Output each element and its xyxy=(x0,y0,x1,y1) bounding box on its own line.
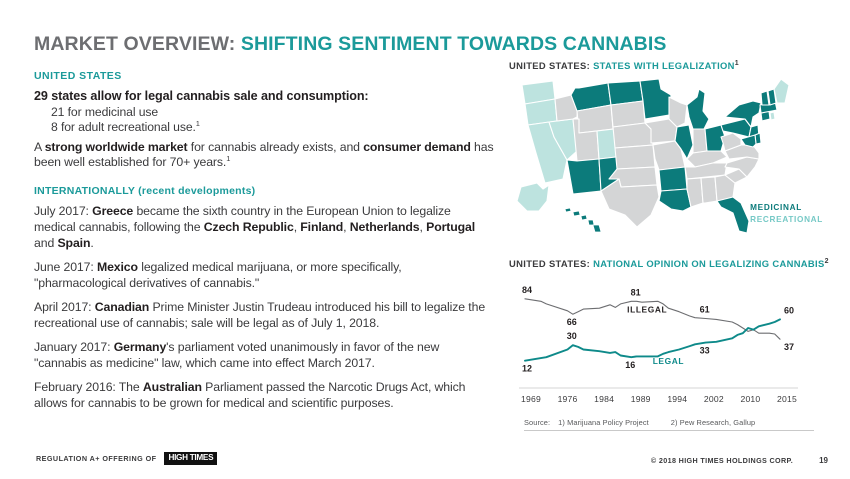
x-tick-1: 1976 xyxy=(558,394,578,404)
high-times-logo: HIGH TIMES xyxy=(164,452,217,465)
state-louisiana xyxy=(659,189,691,211)
chart-heading-prefix: UNITED STATES: xyxy=(509,258,593,269)
chart-x-axis: 1969 1976 1984 1989 1994 2002 2010 2015 xyxy=(521,394,797,404)
state-florida xyxy=(717,197,749,233)
chart-value-label-legal-12: 12 xyxy=(522,364,532,374)
page-title-prefix: MARKET OVERVIEW: xyxy=(34,33,241,55)
us-sub-recreational-text: 8 for adult recreational use. xyxy=(51,120,196,134)
state-arizona xyxy=(567,159,601,194)
source-item-2: 2) Pew Research, Gallup xyxy=(671,418,755,427)
x-tick-3: 1989 xyxy=(631,394,651,404)
intl-mexico-date: June 2017: xyxy=(34,260,97,274)
us-sub-recreational: 8 for adult recreational use.1 xyxy=(51,120,494,135)
intl-greece-sep-4: and xyxy=(34,236,57,250)
intl-entry-mexico: June 2017: Mexico legalized medical mari… xyxy=(34,260,494,292)
state-arkansas xyxy=(659,167,687,191)
map-panel: UNITED STATES: STATES WITH LEGALIZATION1 xyxy=(509,60,845,235)
intl-mexico-country: Mexico xyxy=(97,260,138,274)
section-heading-internationally: INTERNATIONALLY (recent developments) xyxy=(34,185,494,197)
us-para-footnote: 1 xyxy=(226,154,230,163)
map-legend: MEDICINAL RECREATIONAL xyxy=(750,202,823,227)
chart-value-label-legal-33: 33 xyxy=(700,346,710,356)
footer-left: REGULATION A+ OFFERING OF HIGH TIMES xyxy=(36,452,217,465)
intl-greece-country-netherlands: Netherlands xyxy=(350,220,420,234)
state-maine xyxy=(774,79,789,103)
footer-right: © 2018 HIGH TIMES HOLDINGS CORP. 19 xyxy=(651,456,828,465)
intl-entry-australia: February 2016: The Australian Parliament… xyxy=(34,380,494,412)
chart-value-label-illegal-81: 81 xyxy=(631,287,641,297)
source-item-1: 1) Marijuana Policy Project xyxy=(558,418,649,427)
chart-panel-heading: UNITED STATES: NATIONAL OPINION ON LEGAL… xyxy=(509,258,845,269)
state-nebraska xyxy=(613,123,653,148)
intl-entry-canada: April 2017: Canadian Prime Minister Just… xyxy=(34,300,494,332)
x-tick-6: 2010 xyxy=(740,394,760,404)
x-tick-4: 1994 xyxy=(667,394,687,404)
chart-heading-highlight: NATIONAL OPINION ON LEGALIZING CANNABIS xyxy=(593,258,825,269)
x-tick-2: 1984 xyxy=(594,394,614,404)
state-michigan xyxy=(687,89,709,131)
united-states-block: UNITED STATES 29 states allow for legal … xyxy=(34,70,494,171)
intl-greece-country-czech: Czech Republic xyxy=(204,220,294,234)
chart-value-label-illegal-37: 37 xyxy=(784,342,794,352)
intl-germany-date: January 2017: xyxy=(34,340,114,354)
source-label: Source: xyxy=(524,418,550,427)
intl-canada-country: Canadian xyxy=(95,300,149,314)
us-para-bold-market: strong worldwide market xyxy=(45,140,188,154)
chart-value-label-illegal-61: 61 xyxy=(700,305,710,315)
chart-source-note: Source: 1) Marijuana Policy Project 2) P… xyxy=(524,418,814,431)
intl-greece-end: . xyxy=(90,236,93,250)
footer-copyright: © 2018 HIGH TIMES HOLDINGS CORP. xyxy=(651,456,793,465)
chart-value-label-illegal-84: 84 xyxy=(522,285,532,295)
x-tick-0: 1969 xyxy=(521,394,541,404)
x-tick-5: 2002 xyxy=(704,394,724,404)
x-tick-7: 2015 xyxy=(777,394,797,404)
series-label-legal: LEGAL xyxy=(653,356,684,366)
state-kansas xyxy=(615,145,655,169)
intl-entry-germany: January 2017: Germany's parliament voted… xyxy=(34,340,494,372)
series-label-illegal: ILLEGAL xyxy=(627,305,667,315)
map-heading-prefix: UNITED STATES: xyxy=(509,60,593,71)
slide-root: MARKET OVERVIEW: SHIFTING SENTIMENT TOWA… xyxy=(0,0,850,479)
state-minnesota xyxy=(640,79,671,119)
internationally-block: INTERNATIONALLY (recent developments) Ju… xyxy=(34,185,494,412)
state-alaska xyxy=(517,183,549,211)
map-heading-highlight: STATES WITH LEGALIZATION xyxy=(593,60,735,71)
us-sub-recreational-footnote: 1 xyxy=(196,119,200,128)
intl-greece-country-spain: Spain xyxy=(57,236,90,250)
state-rhode-island xyxy=(770,112,775,120)
page-number: 19 xyxy=(819,456,828,465)
us-sub-medicinal: 21 for medicinal use xyxy=(51,105,494,120)
opinion-chart-svg: 84668161371230163360ILLEGALLEGAL xyxy=(509,273,814,391)
page-title: MARKET OVERVIEW: SHIFTING SENTIMENT TOWA… xyxy=(34,33,667,56)
map-panel-heading: UNITED STATES: STATES WITH LEGALIZATION1 xyxy=(509,60,845,71)
intl-greece-country: Greece xyxy=(92,204,133,218)
intl-greece-date: July 2017: xyxy=(34,204,92,218)
section-heading-united-states: UNITED STATES xyxy=(34,70,494,82)
opinion-chart-panel: UNITED STATES: NATIONAL OPINION ON LEGAL… xyxy=(509,258,845,431)
map-legend-medicinal: MEDICINAL xyxy=(750,202,823,215)
chart-value-label-legal-60: 60 xyxy=(784,306,794,316)
intl-entry-greece: July 2017: Greece became the sixth count… xyxy=(34,204,494,251)
chart-value-label-illegal-66: 66 xyxy=(567,317,577,327)
intl-australia-date: February 2016: The xyxy=(34,380,143,394)
us-para-bold-demand: consumer demand xyxy=(363,140,471,154)
state-texas xyxy=(601,179,659,227)
us-para-c: for cannabis already exists, and xyxy=(187,140,363,154)
intl-germany-country: Germany xyxy=(114,340,166,354)
map-heading-footnote: 1 xyxy=(735,60,739,67)
opinion-line-chart: 84668161371230163360ILLEGALLEGAL xyxy=(509,273,814,393)
state-hawaii xyxy=(565,208,601,232)
chart-value-label-legal-30: 30 xyxy=(567,331,577,341)
intl-australia-country: Australian xyxy=(143,380,202,394)
intl-greece-country-portugal: Portugal xyxy=(426,220,475,234)
us-para-a: A xyxy=(34,140,45,154)
chart-value-label-legal-16: 16 xyxy=(625,360,635,370)
footer-offering-text: REGULATION A+ OFFERING OF xyxy=(36,454,156,463)
us-market-paragraph: A strong worldwide market for cannabis a… xyxy=(34,140,494,171)
us-map: MEDICINAL RECREATIONAL xyxy=(509,75,845,235)
chart-heading-footnote: 2 xyxy=(825,258,829,265)
map-legend-recreational: RECREATIONAL xyxy=(750,214,823,227)
page-title-highlight: SHIFTING SENTIMENT TOWARDS CANNABIS xyxy=(241,33,667,55)
intl-canada-date: April 2017: xyxy=(34,300,95,314)
us-lead-statement: 29 states allow for legal cannabis sale … xyxy=(34,89,494,103)
intl-greece-sep-2: , xyxy=(343,220,350,234)
series-line-legal xyxy=(525,320,780,361)
state-alabama xyxy=(701,177,717,203)
intl-greece-country-finland: Finland xyxy=(300,220,343,234)
left-content-column: UNITED STATES 29 states allow for legal … xyxy=(34,70,494,420)
